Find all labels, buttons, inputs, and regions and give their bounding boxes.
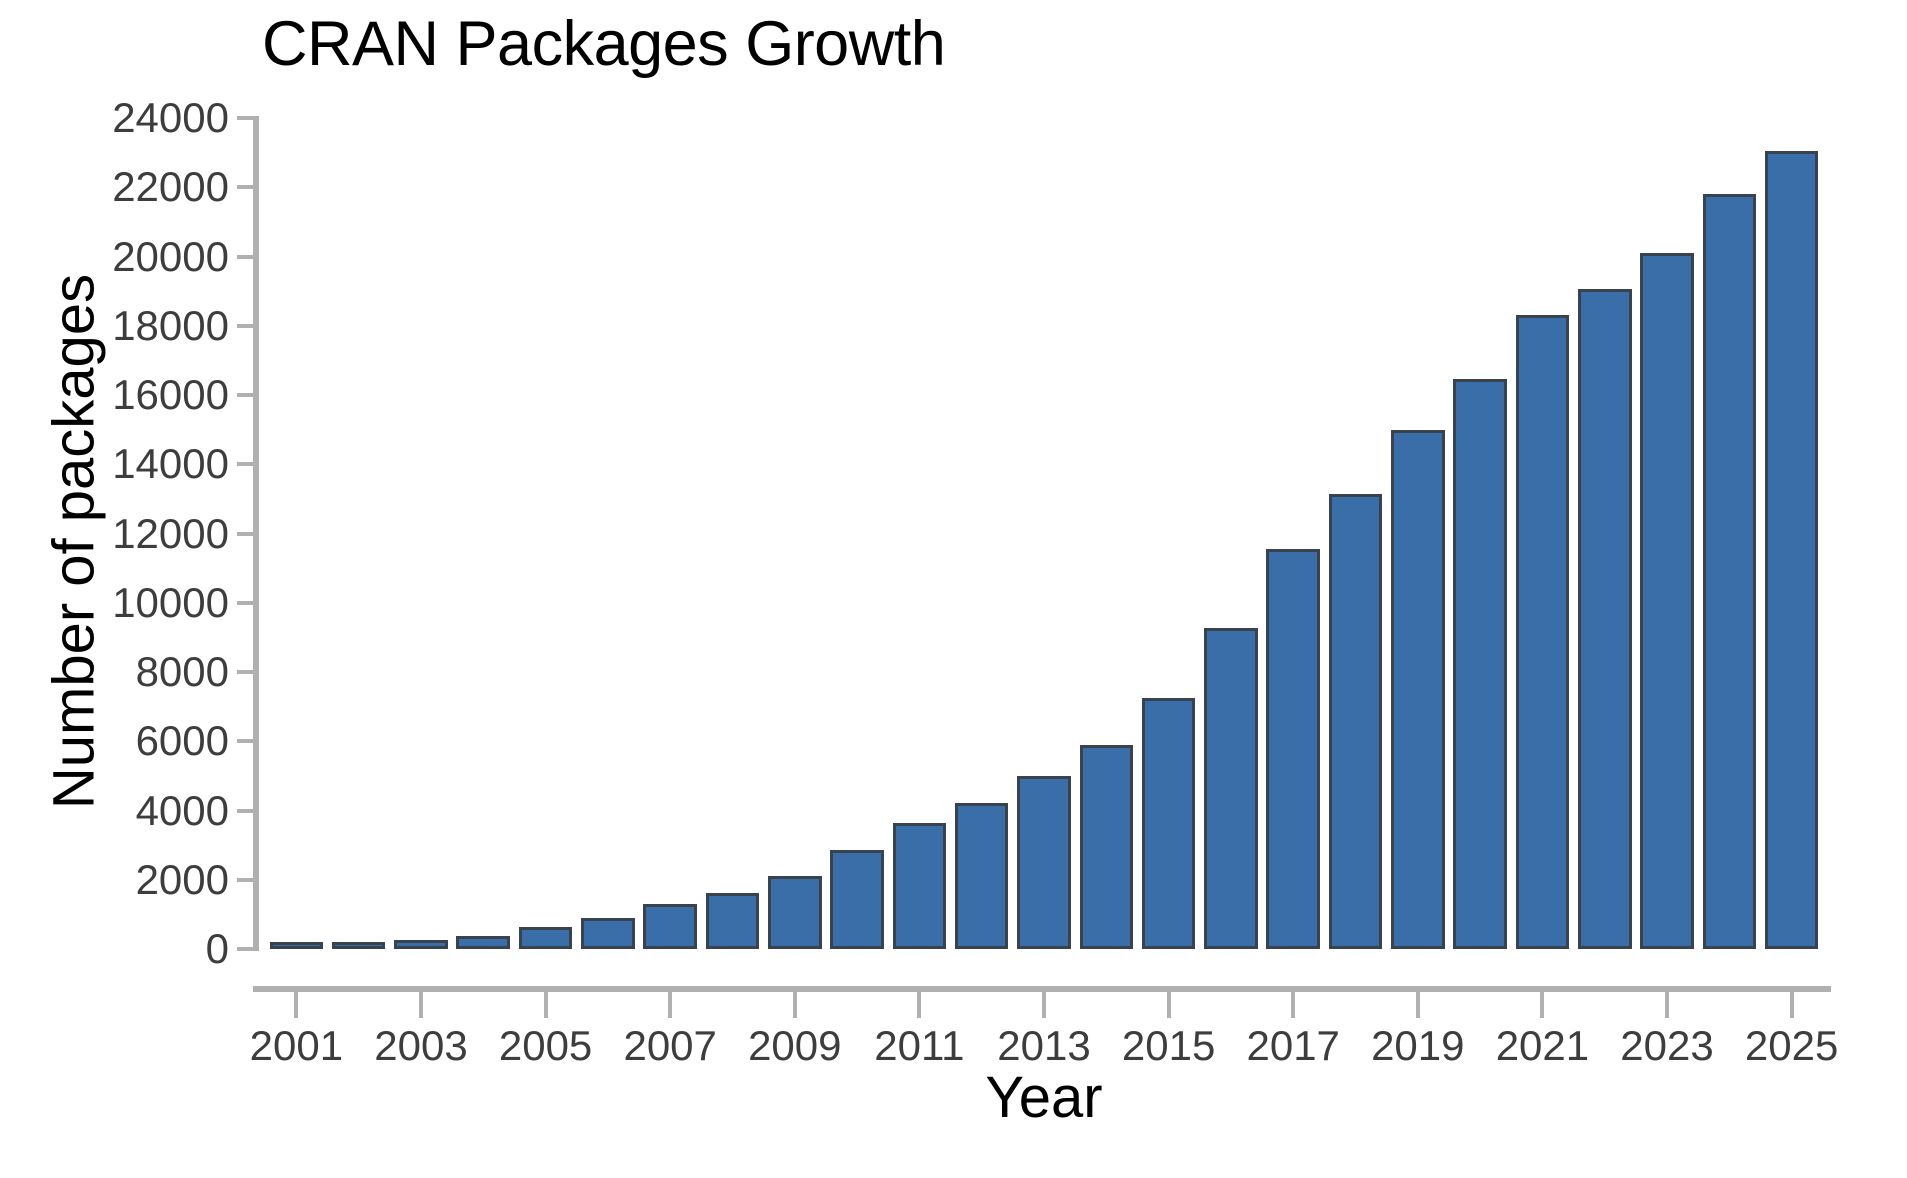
y-tick-mark (237, 324, 259, 328)
y-tick-mark (237, 601, 259, 605)
x-tick-label: 2023 (1620, 1022, 1713, 1070)
bar (1017, 776, 1071, 949)
bar (1703, 194, 1757, 949)
y-tick-label: 20000 (112, 233, 229, 281)
x-tick-mark (419, 992, 423, 1018)
x-tick-mark (1540, 992, 1544, 1018)
x-tick-label: 2025 (1745, 1022, 1838, 1070)
y-tick-mark (237, 532, 259, 536)
y-tick-mark (237, 255, 259, 259)
x-tick-mark (1167, 992, 1171, 1018)
y-axis-ticks: 2400022000200001800016000140001200010000… (0, 0, 259, 1178)
bar (1640, 253, 1694, 949)
x-tick-label: 2011 (874, 1022, 964, 1070)
x-tick-mark (793, 992, 797, 1018)
y-tick-label: 2000 (136, 856, 229, 904)
y-tick-label: 4000 (136, 787, 229, 835)
bar (1765, 151, 1819, 949)
bar (1453, 379, 1507, 949)
x-tick-mark (1042, 992, 1046, 1018)
chart-figure: CRAN Packages Growth Number of packages … (0, 0, 1907, 1178)
y-tick-label: 16000 (112, 371, 229, 419)
bar (519, 927, 573, 950)
bar (1391, 430, 1445, 949)
x-tick-label: 2005 (499, 1022, 592, 1070)
bar (1080, 745, 1134, 949)
y-tick-mark (237, 116, 259, 120)
chart-title: CRAN Packages Growth (262, 10, 945, 79)
bar (893, 823, 947, 949)
y-tick-label: 24000 (112, 94, 229, 142)
bar (332, 942, 386, 949)
bar (955, 803, 1009, 949)
x-tick-label: 2015 (1122, 1022, 1215, 1070)
x-tick-mark (294, 992, 298, 1018)
x-tick-label: 2007 (623, 1022, 716, 1070)
x-tick-mark (1291, 992, 1295, 1018)
x-tick-label: 2009 (748, 1022, 841, 1070)
x-tick-mark (668, 992, 672, 1018)
y-tick-label: 10000 (112, 579, 229, 627)
x-tick-label: 2013 (997, 1022, 1090, 1070)
y-tick-mark (237, 878, 259, 882)
y-tick-label: 6000 (136, 717, 229, 765)
x-axis-label: Year (259, 1064, 1829, 1131)
bar (270, 942, 324, 949)
y-tick-mark (237, 947, 259, 951)
x-tick-mark (917, 992, 921, 1018)
y-tick-label: 12000 (112, 510, 229, 558)
y-tick-mark (237, 739, 259, 743)
bar (1329, 494, 1383, 949)
x-tick-label: 2019 (1371, 1022, 1464, 1070)
y-tick-label: 22000 (112, 163, 229, 211)
x-tick-mark (1665, 992, 1669, 1018)
bar (1142, 698, 1196, 949)
plot-area (259, 118, 1829, 949)
bar (706, 893, 760, 949)
y-tick-mark (237, 393, 259, 397)
bar (1204, 628, 1258, 949)
bar (768, 876, 822, 949)
bar (1578, 289, 1632, 949)
bar (1266, 549, 1320, 949)
bar (394, 940, 448, 949)
bar (456, 936, 510, 949)
y-tick-label: 0 (206, 925, 229, 973)
y-tick-mark (237, 809, 259, 813)
x-tick-label: 2003 (374, 1022, 467, 1070)
y-tick-label: 14000 (112, 440, 229, 488)
bar (830, 850, 884, 949)
bar (643, 904, 697, 949)
bar (581, 918, 635, 949)
x-tick-label: 2001 (250, 1022, 343, 1070)
x-tick-label: 2017 (1246, 1022, 1339, 1070)
x-tick-mark (1790, 992, 1794, 1018)
x-tick-mark (1416, 992, 1420, 1018)
y-tick-mark (237, 185, 259, 189)
y-tick-label: 18000 (112, 302, 229, 350)
x-tick-mark (544, 992, 548, 1018)
x-tick-label: 2021 (1496, 1022, 1589, 1070)
y-tick-mark (237, 670, 259, 674)
y-tick-label: 8000 (136, 648, 229, 696)
bar (1516, 315, 1570, 949)
y-tick-mark (237, 462, 259, 466)
